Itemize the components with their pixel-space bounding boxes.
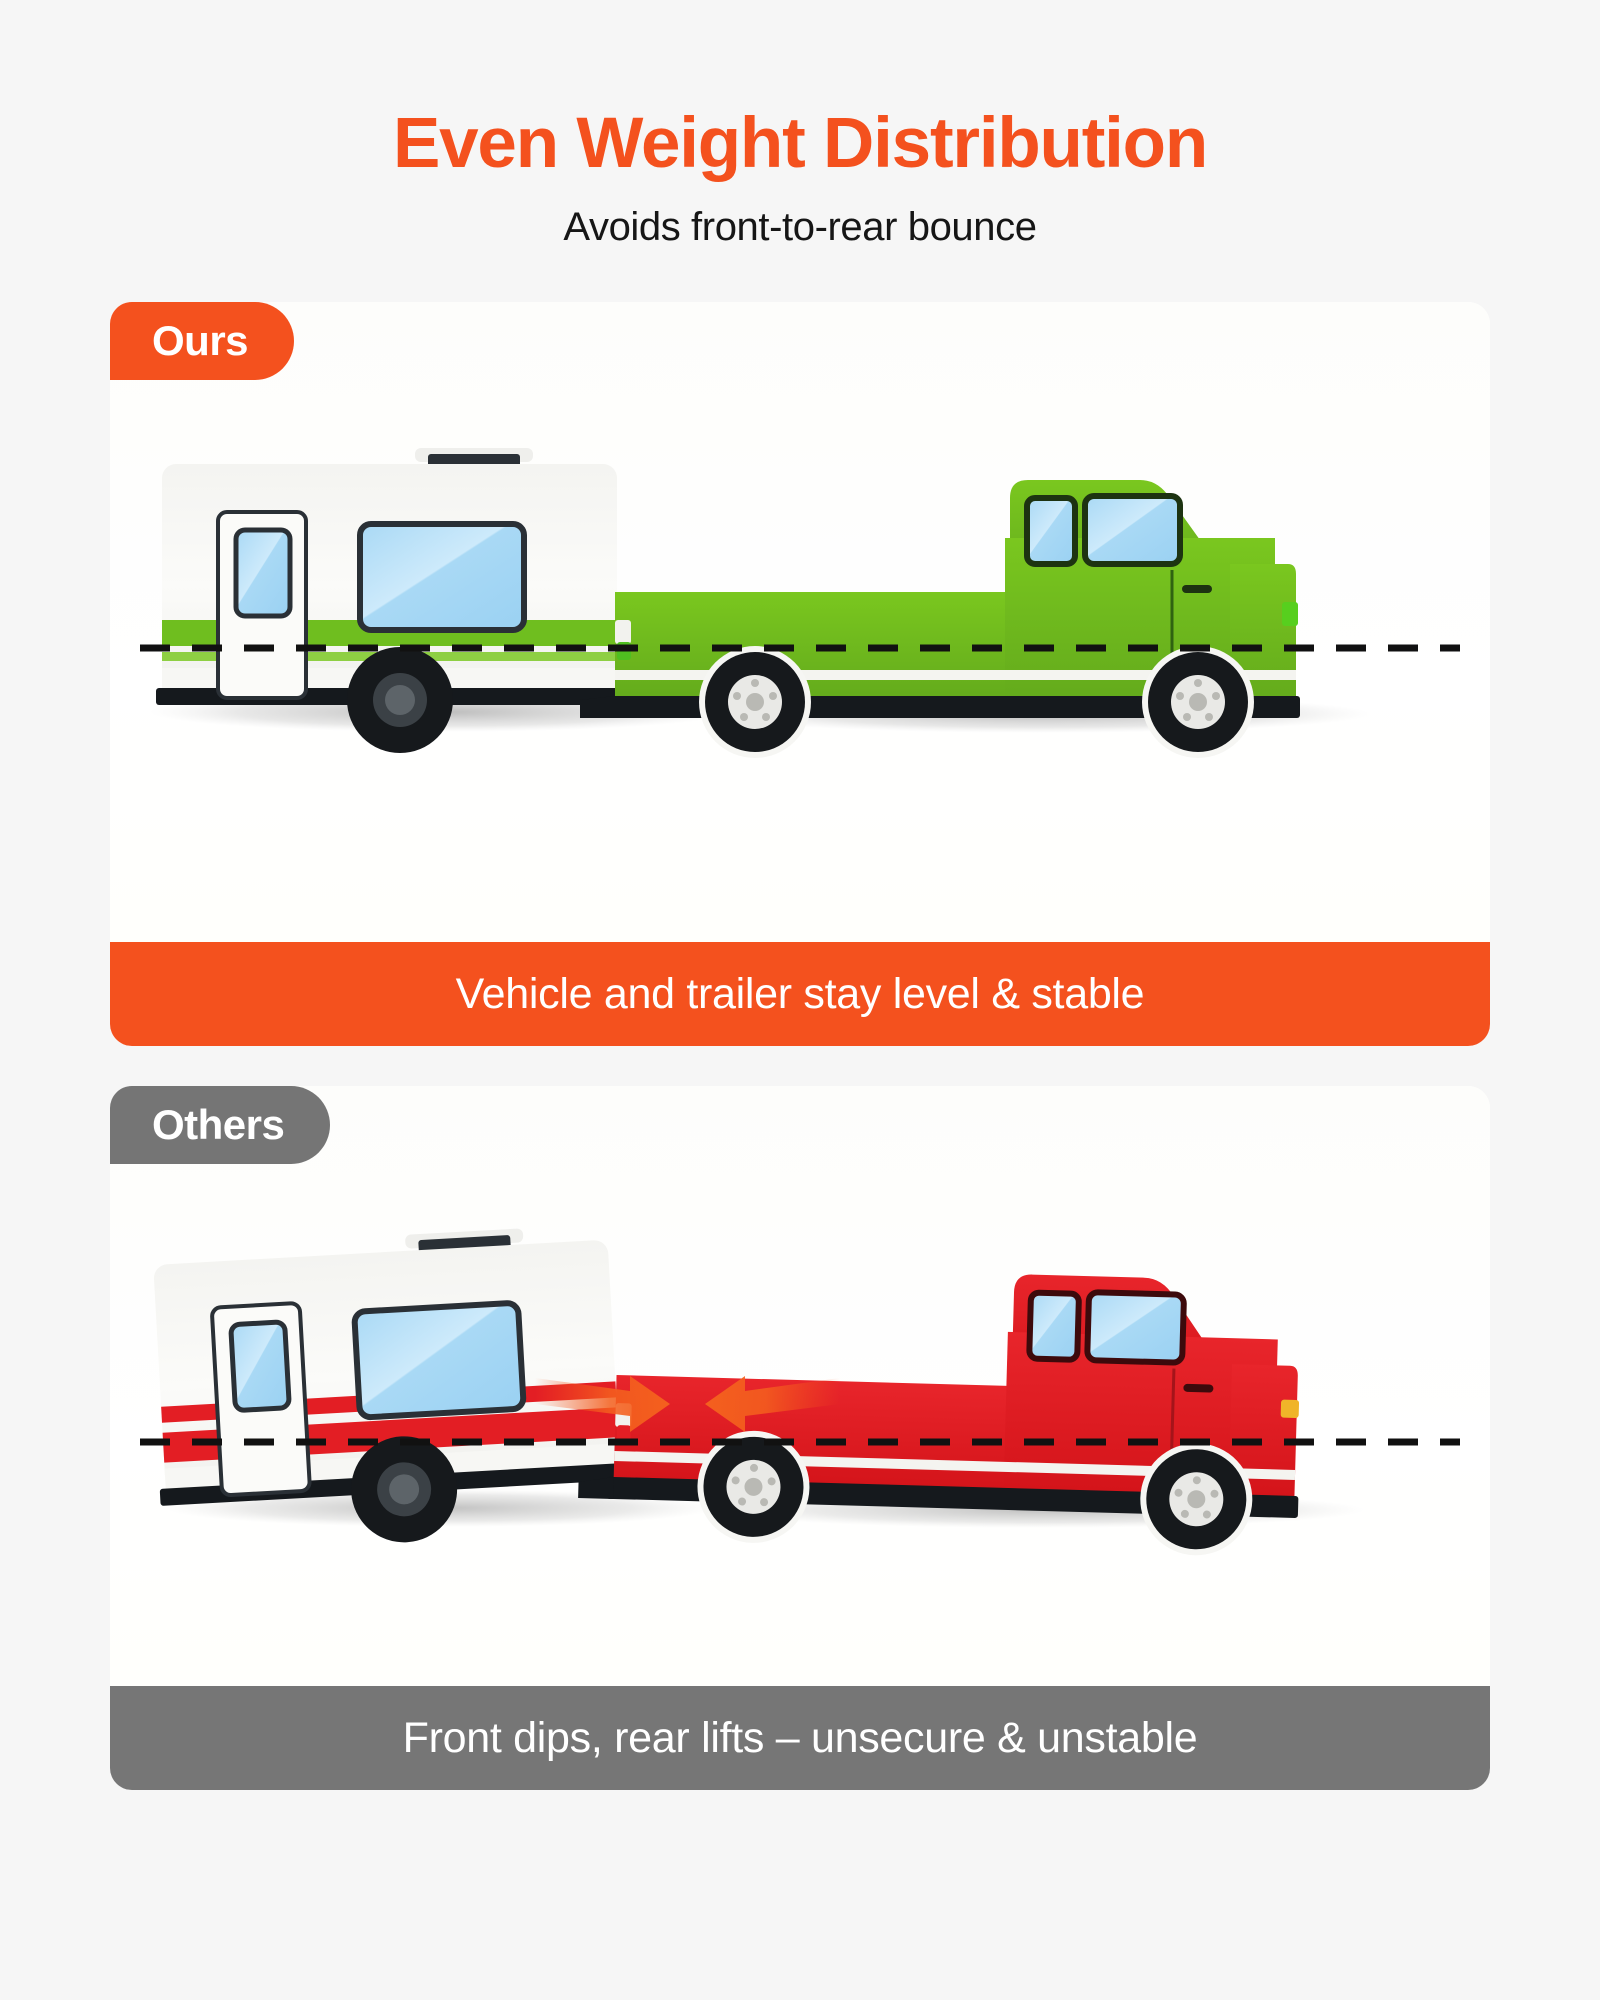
badge-ours: Ours (110, 302, 294, 380)
illustration-others: Others (110, 1086, 1490, 1686)
illustration-ours: Ours (110, 302, 1490, 942)
card-inner-ours: Ours (110, 302, 1490, 1046)
caption-ours: Vehicle and trailer stay level & stable (110, 942, 1490, 1046)
truck-rear-wheel (699, 646, 811, 758)
comparison-card-ours: Ours (110, 302, 1490, 1046)
card-inner-others: Others (110, 1086, 1490, 1790)
truck-ours (580, 480, 1300, 758)
comparison-card-others: Others (110, 1086, 1490, 1790)
caption-others-text: Front dips, rear lifts – unsecure & unst… (403, 1714, 1198, 1763)
caption-others: Front dips, rear lifts – unsecure & unst… (110, 1686, 1490, 1790)
page-title: Even Weight Distribution (0, 108, 1600, 179)
caption-ours-text: Vehicle and trailer stay level & stable (456, 970, 1145, 1019)
badge-ours-label: Ours (152, 317, 248, 365)
others-scene-svg (110, 1086, 1490, 1686)
page-subtitle: Avoids front-to-rear bounce (0, 205, 1600, 250)
badge-others-label: Others (152, 1101, 284, 1149)
header: Even Weight Distribution Avoids front-to… (0, 0, 1600, 250)
badge-others: Others (110, 1086, 330, 1164)
truck-front-wheel (1142, 646, 1254, 758)
vehicle-art-ours (110, 302, 1490, 942)
infographic-page: Even Weight Distribution Avoids front-to… (0, 0, 1600, 2000)
ours-scene-svg (110, 302, 1490, 942)
vehicle-art-others (110, 1086, 1490, 1686)
